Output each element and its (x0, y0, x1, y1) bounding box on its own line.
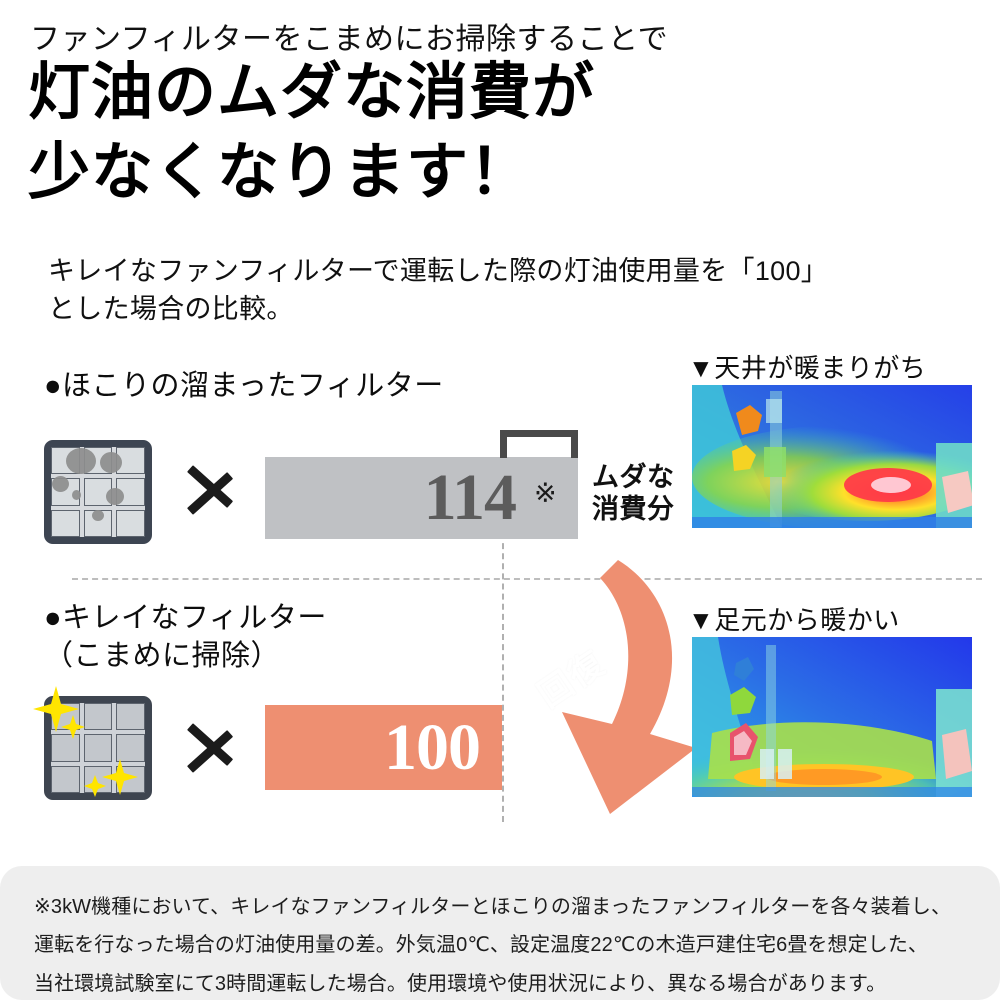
lede-paragraph: キレイなファンフィルターで運転した際の灯油使用量を「100」 とした場合の比較。 (48, 252, 828, 329)
row-label-clean-line-1: ●キレイなフィルター (44, 600, 327, 638)
waste-label: ムダな 消費分 (592, 462, 675, 526)
bar-dusty: 114 (265, 457, 578, 539)
headline-line-1: 灯油のムダな消費が (28, 62, 595, 124)
bar-value-dusty: 114 (424, 465, 516, 531)
thermal-image-floor (692, 637, 972, 797)
bar-clean: 100 (265, 705, 502, 790)
row-label-clean-line-2: （こまめに掃除） (44, 638, 327, 676)
row-label-clean: ●キレイなフィルター （こまめに掃除） (44, 600, 327, 675)
thermal-caption-ceiling: ▼天井が暖まりがち (688, 348, 926, 385)
waste-label-line-1: ムダな (592, 462, 675, 494)
footnote-line-2: 運転を行なった場合の灯油使用量の差。外気温0℃、設定温度22℃の木造戸建住宅6畳… (34, 926, 970, 964)
sparkle-icon-small (60, 714, 90, 744)
row-label-dusty: ●ほこりの溜まったフィルター (44, 368, 444, 406)
clean-filter-icon (44, 696, 152, 800)
infographic-root: ファンフィルターをこまめにお掃除することで 灯油のムダな消費が 少なくなります！… (0, 0, 1000, 1000)
waste-label-line-2: 消費分 (592, 494, 675, 526)
lede-line-2: とした場合の比較。 (48, 290, 828, 328)
sparkle-icon-tiny (84, 774, 110, 800)
bar-value-clean: 100 (384, 715, 480, 781)
footnote-line-1: ※3kW機種において、キレイなファンフィルターとほこりの溜まったファンフィルター… (34, 888, 970, 926)
headline-line-2: 少なくなります！ (28, 142, 532, 204)
chevron-icon-clean (186, 704, 238, 790)
lede-line-1: キレイなファンフィルターで運転した際の灯油使用量を「100」 (48, 252, 828, 290)
footnote-line-3: 当社環境試験室にて3時間運転した場合。使用環境や使用状況により、異なる場合があり… (34, 965, 970, 1003)
chevron-icon-dusty (186, 446, 238, 532)
thermal-caption-floor: ▼足元から暖かい (688, 600, 900, 637)
waste-bracket (500, 430, 578, 458)
asterisk-mark: ※ (534, 480, 557, 507)
kicker-text: ファンフィルターをこまめにお掃除することで (30, 14, 668, 58)
thermal-image-ceiling (692, 385, 972, 528)
footnote-panel: ※3kW機種において、キレイなファンフィルターとほこりの溜まったファンフィルター… (0, 866, 1000, 1000)
dusty-filter-icon (44, 440, 152, 544)
footnote-text: ※3kW機種において、キレイなファンフィルターとほこりの溜まったファンフィルター… (34, 888, 970, 1003)
